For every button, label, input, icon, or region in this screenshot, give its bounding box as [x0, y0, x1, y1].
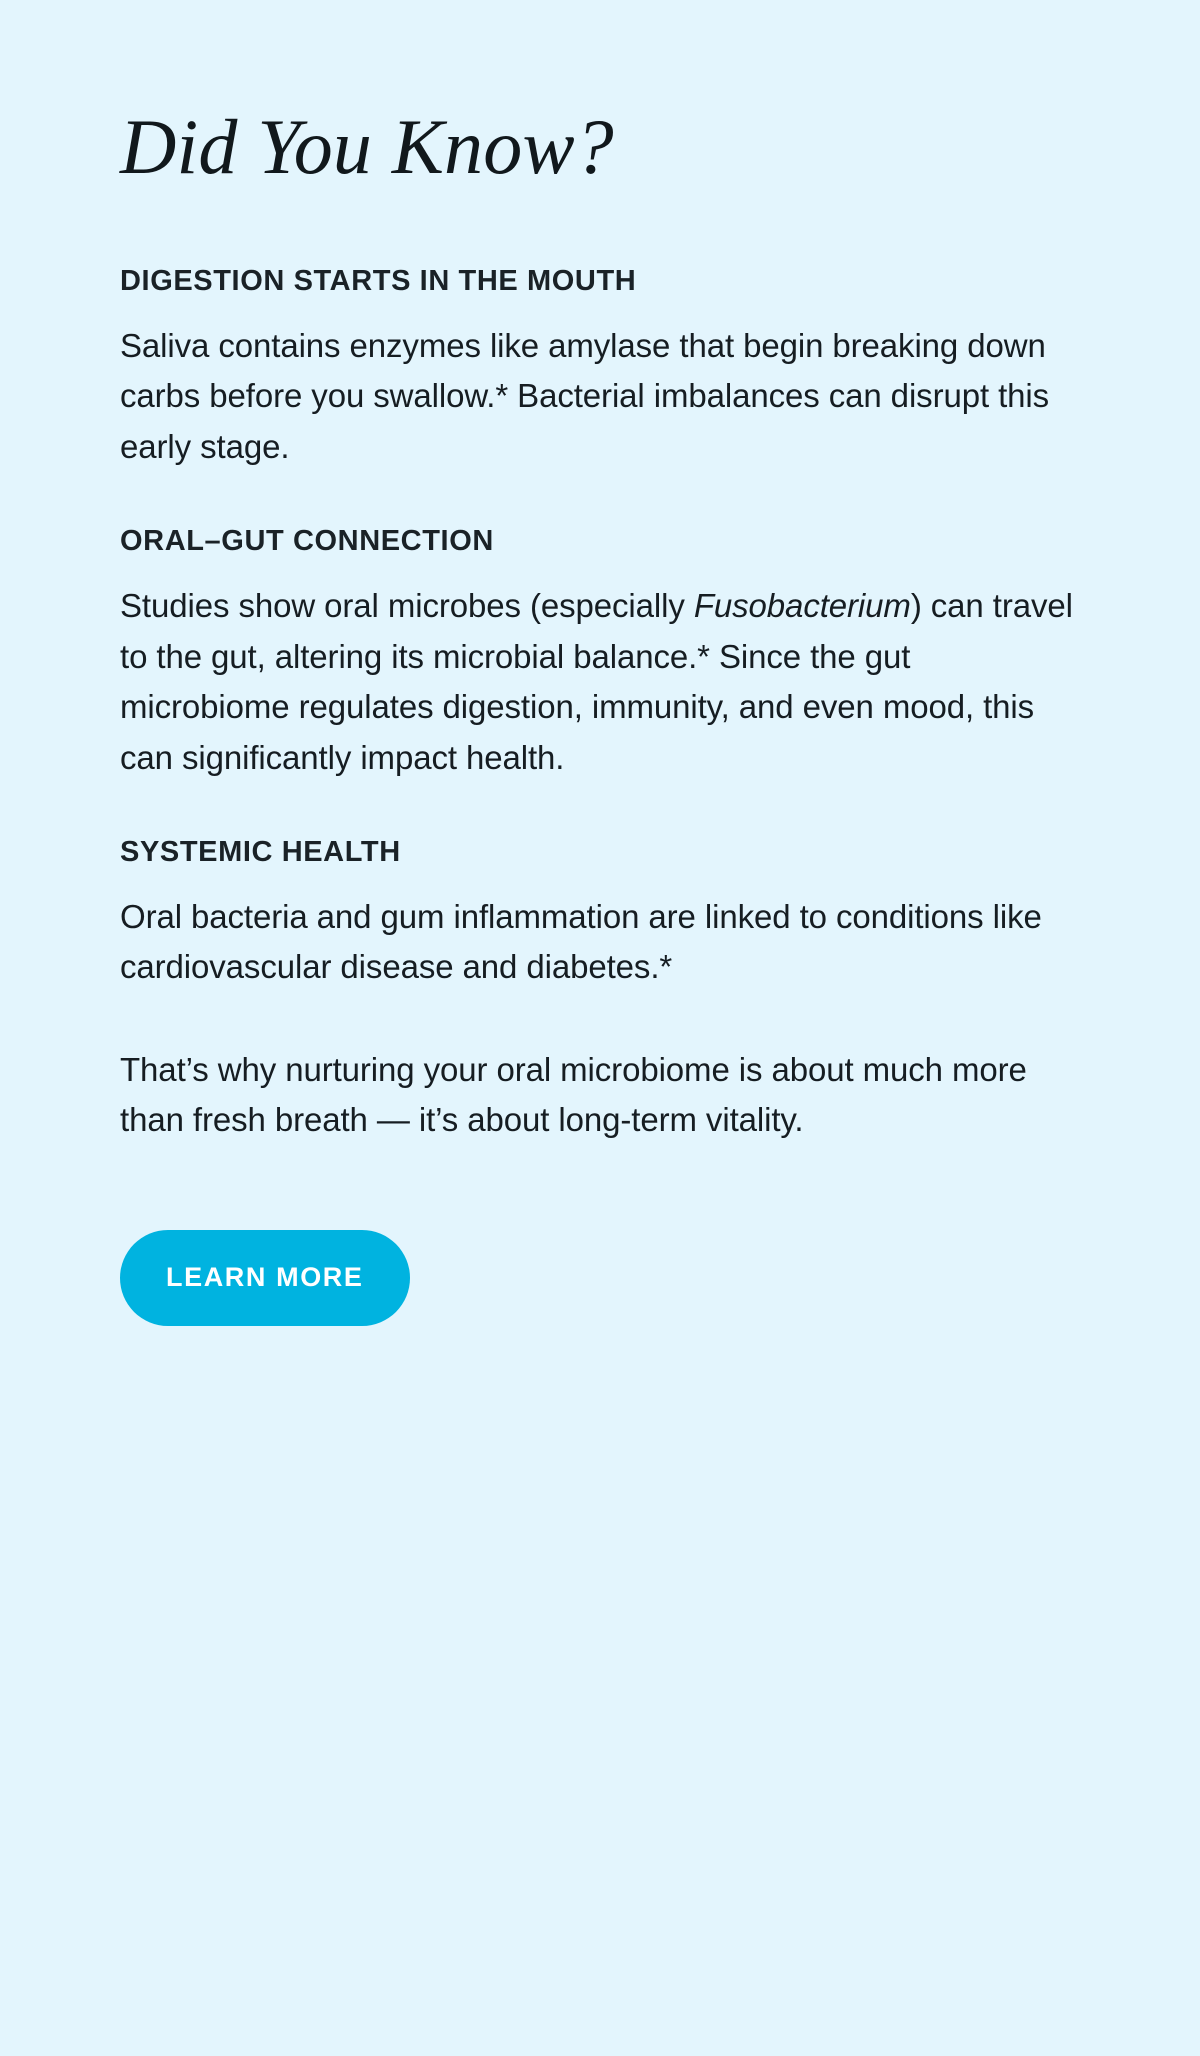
cta-container: LEARN MORE: [120, 1224, 1080, 1326]
section-heading-systemic-health: SYSTEMIC HEALTH: [120, 835, 1080, 870]
section-heading-oral-gut-connection: ORAL–GUT CONNECTION: [120, 524, 1080, 559]
section-digestion: DIGESTION STARTS IN THE MOUTH Saliva con…: [120, 264, 1080, 472]
species-name-italic: Fusobacterium: [694, 587, 911, 624]
page-title: Did You Know?: [120, 0, 1080, 186]
section-body-digestion: Saliva contains enzymes like amylase tha…: [120, 321, 1080, 472]
body-text-lead: Studies show oral microbes (especially: [120, 587, 694, 624]
closing-paragraph: That’s why nurturing your oral microbiom…: [120, 1045, 1080, 1146]
section-oral-gut-connection: ORAL–GUT CONNECTION Studies show oral mi…: [120, 524, 1080, 783]
section-body-systemic-health: Oral bacteria and gum inflammation are l…: [120, 892, 1080, 993]
learn-more-button[interactable]: LEARN MORE: [120, 1230, 410, 1326]
section-systemic-health: SYSTEMIC HEALTH Oral bacteria and gum in…: [120, 835, 1080, 993]
section-heading-digestion: DIGESTION STARTS IN THE MOUTH: [120, 264, 1080, 299]
section-body-oral-gut-connection: Studies show oral microbes (especially F…: [120, 581, 1080, 783]
did-you-know-card: Did You Know? DIGESTION STARTS IN THE MO…: [0, 0, 1200, 2056]
